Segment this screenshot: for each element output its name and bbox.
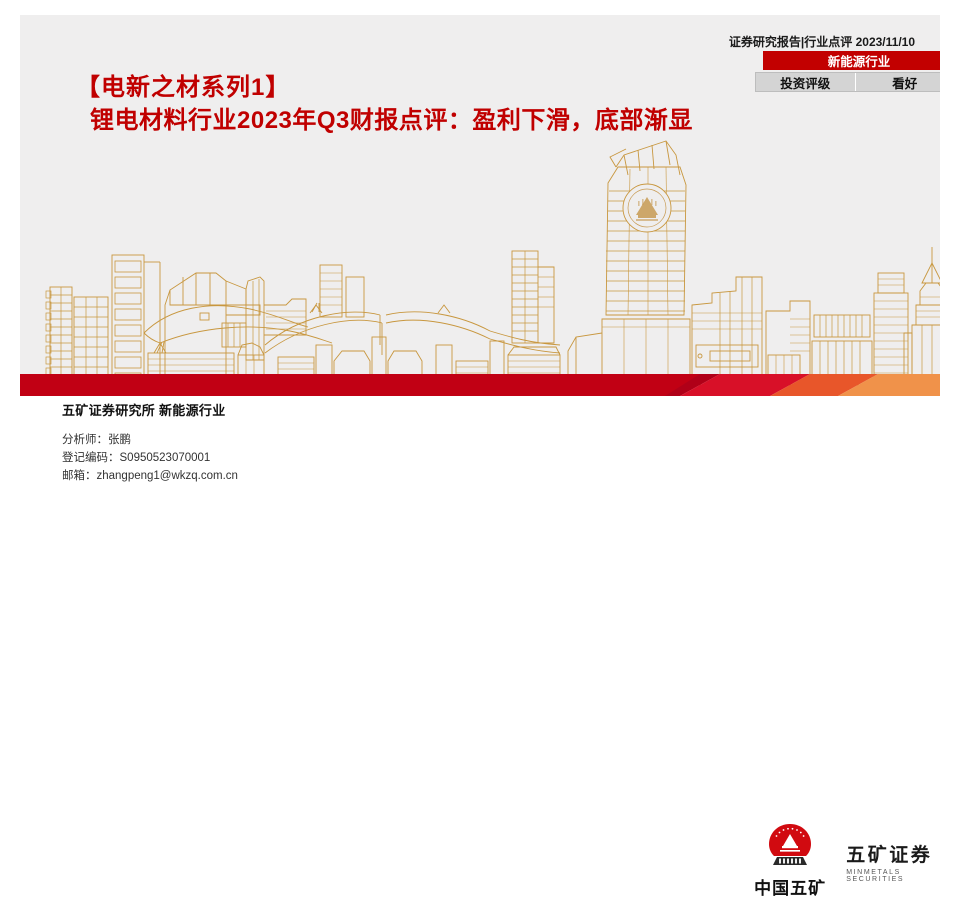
group-name-cn: 中国五矿 <box>748 874 832 899</box>
page-title: 锂电材料行业2023年Q3财报点评：盈利下滑，底部渐显 <box>90 104 693 138</box>
investment-rating-label: 投资评级 <box>756 73 856 91</box>
analyst-info: 分析师：张鹏 登记编码：S0950523070001 邮箱：zhangpeng1… <box>62 432 238 485</box>
analyst-name: 分析师：张鹏 <box>62 432 238 450</box>
department-name: 五矿证券研究所 新能源行业 <box>62 400 226 419</box>
securities-name-en: MINMETALS SECURITIES <box>846 869 960 883</box>
minmetals-emblem-watermark <box>628 189 666 227</box>
slide-root: 证券研究报告|行业点评 2023/11/10 新能源行业 投资评级 看好 【电新… <box>0 0 960 540</box>
series-title: 【电新之材系列1】 <box>76 72 693 104</box>
securities-name-cn: 五矿证券 <box>846 840 960 867</box>
logo-group: 中国五矿 五矿证券 MINMETALS SECURITIES <box>748 820 960 899</box>
analyst-email: 邮箱：zhangpeng1@wkzq.com.cn <box>62 468 238 486</box>
title-block: 【电新之材系列1】 锂电材料行业2023年Q3财报点评：盈利下滑，底部渐显 <box>76 72 693 138</box>
analyst-license: 登记编码：S0950523070001 <box>62 450 238 468</box>
investment-rating-row: 投资评级 看好 <box>755 72 940 92</box>
accent-band <box>20 374 940 396</box>
investment-rating-value: 看好 <box>856 73 941 91</box>
report-header-line: 证券研究报告|行业点评 2023/11/10 <box>729 33 915 50</box>
minmetals-emblem-icon <box>764 820 816 872</box>
industry-badge: 新能源行业 <box>763 51 940 70</box>
footer: 五矿证券研究所 新能源行业 分析师：张鹏 登记编码：S0950523070001… <box>0 396 960 540</box>
content-panel: 证券研究报告|行业点评 2023/11/10 新能源行业 投资评级 看好 【电新… <box>20 15 940 390</box>
securities-logo: 五矿证券 MINMETALS SECURITIES <box>846 836 960 883</box>
minmetals-group-logo: 中国五矿 <box>748 820 832 899</box>
